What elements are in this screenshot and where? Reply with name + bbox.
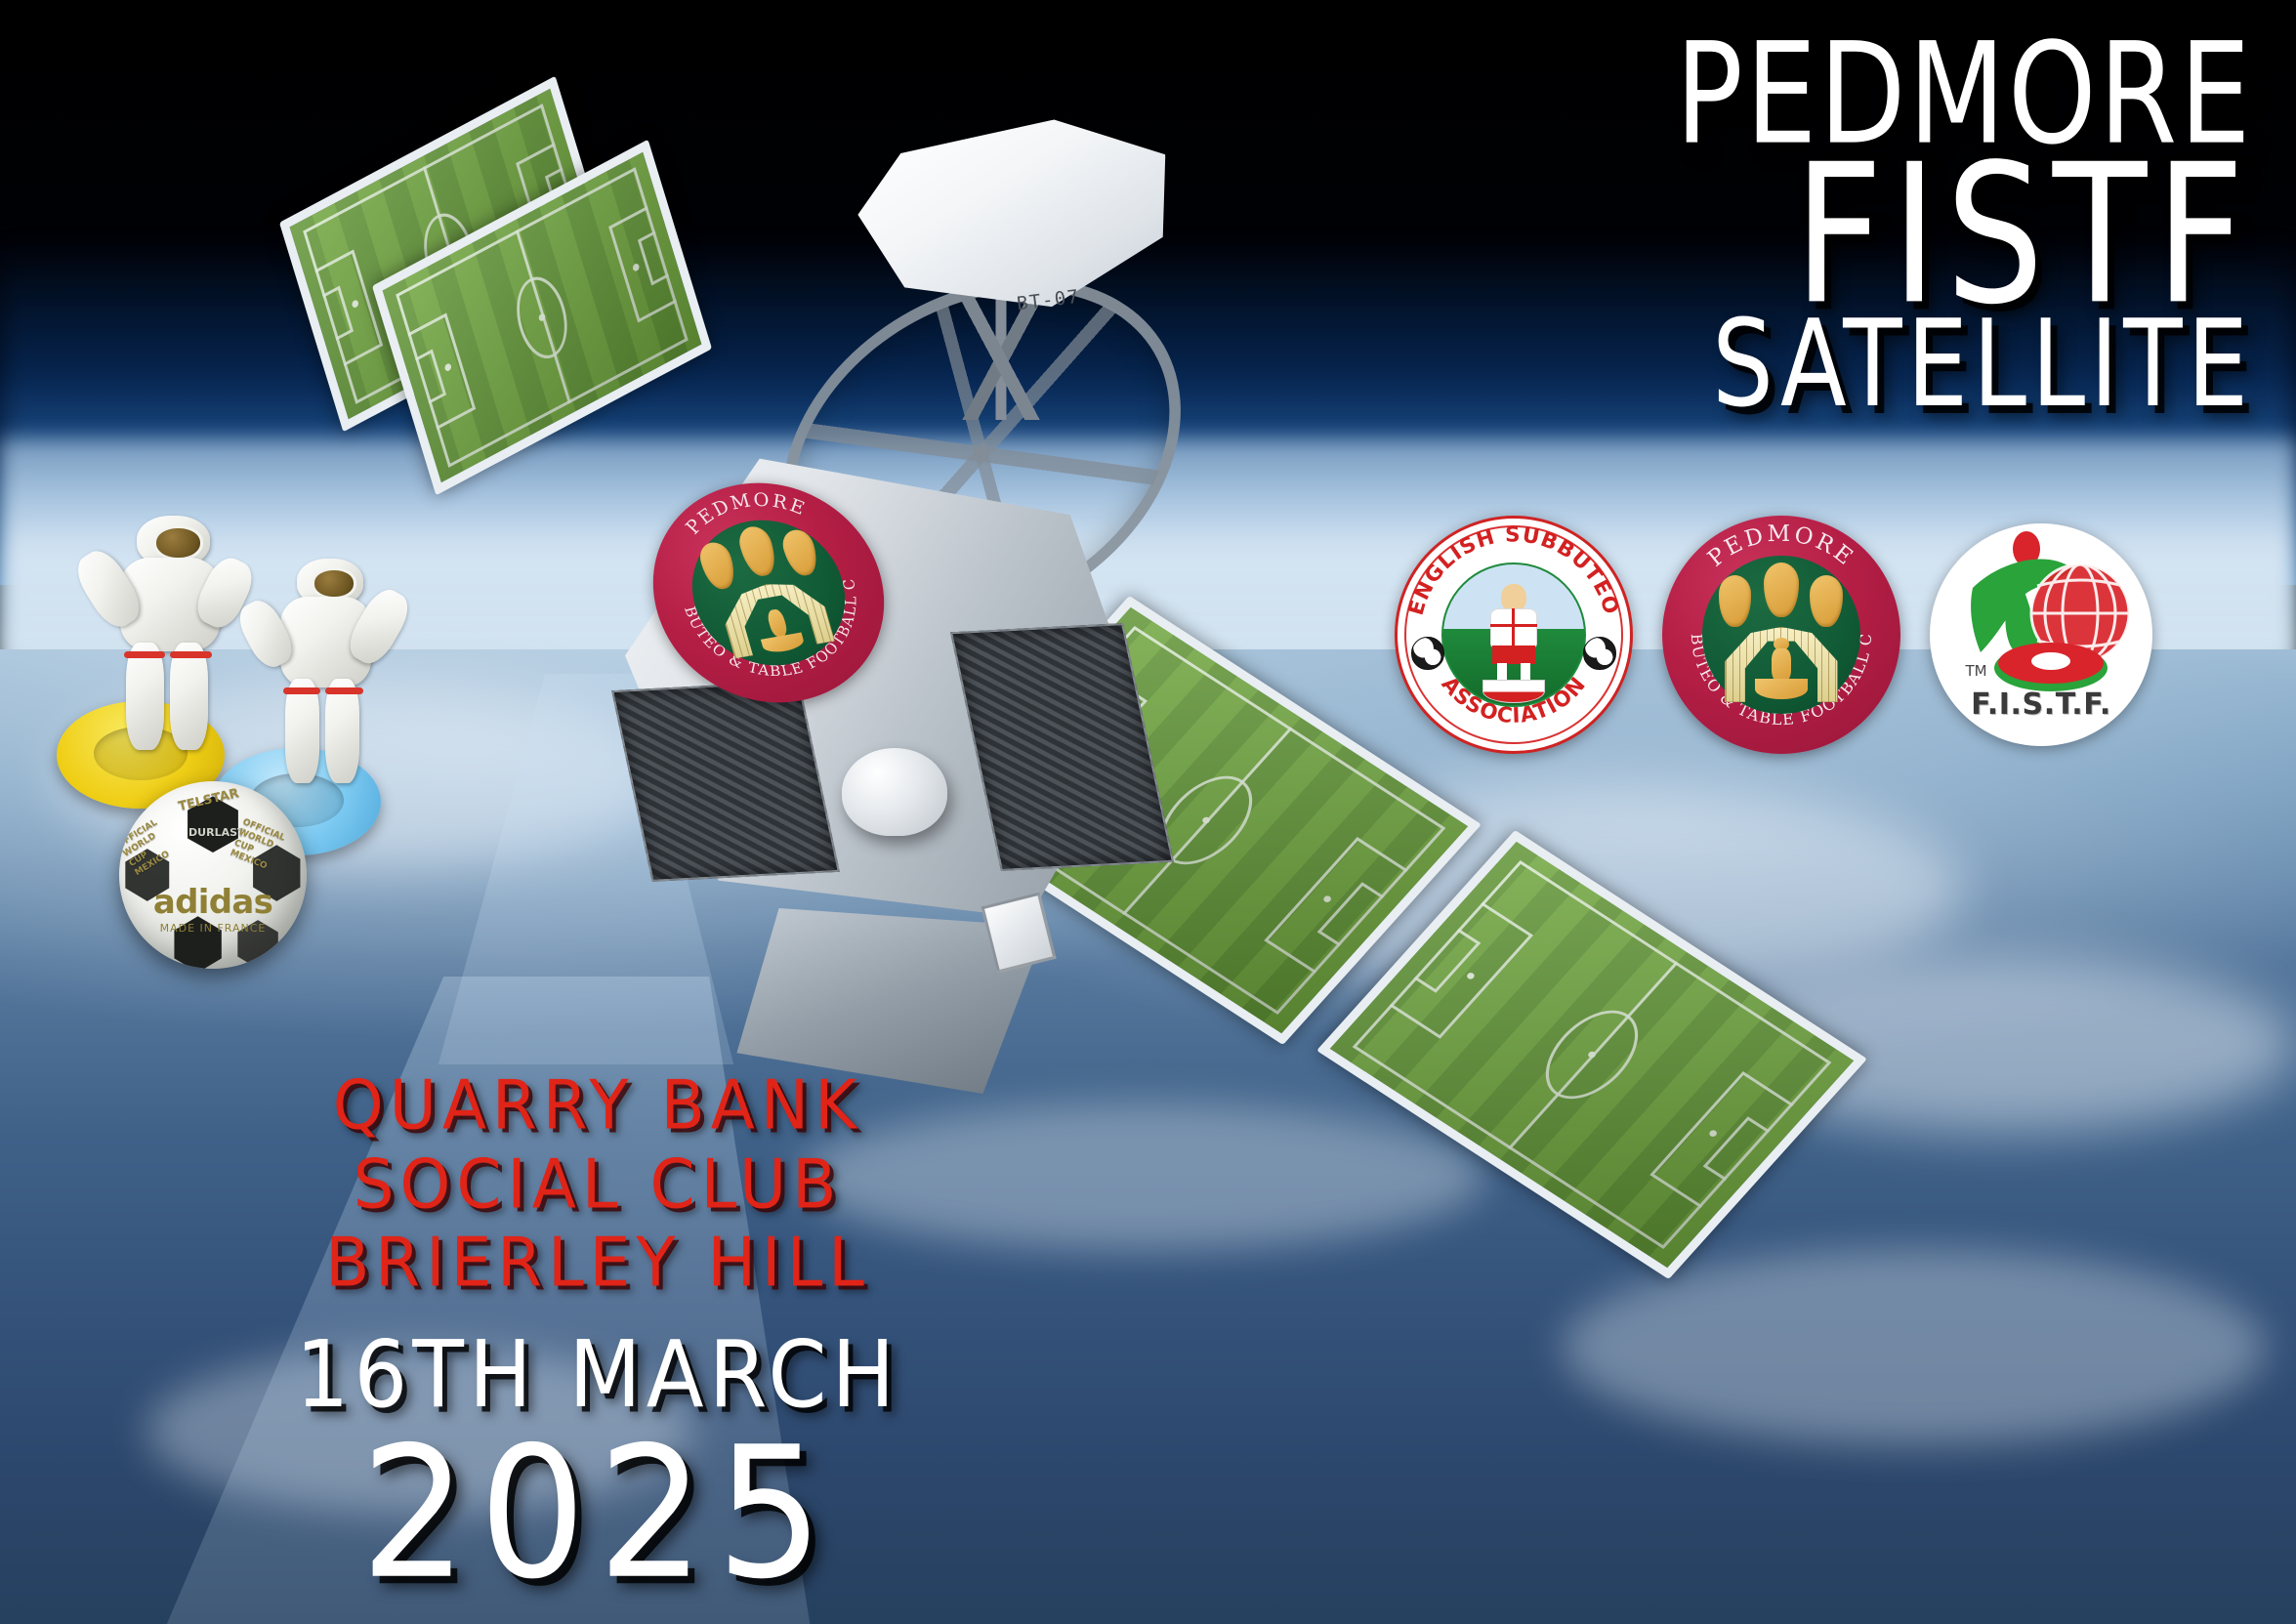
esa-football-icon-right [1583,637,1615,669]
venue-name-line: QUARRY BANK [256,1064,939,1147]
esa-player-shirt-cross-v [1512,608,1515,649]
venue-town-line: BRIERLEY HILL [256,1222,939,1305]
esa-pitch-scene [1441,562,1586,707]
satellite-sensor-knob [842,748,947,836]
esa-football-icon-left [1411,637,1443,669]
astronaut-right [244,559,400,785]
logo-english-subbuteo-association: ENGLISH SUBBUTEO ASSOCIATION [1395,516,1633,754]
logo-fistf: TM F.I.S.T.F. [1930,523,2152,746]
event-details-block: QUARRY BANK SOCIAL CLUB BRIERLEY HILL 16… [256,1066,939,1598]
pedmore-pear-center [1764,562,1798,617]
satellite-instrument-panel-left [611,681,840,882]
logo-pedmore-club: PEDMORE SUBBUTEO & TABLE FOOTBALL CLUB [1662,516,1900,754]
fistf-wordmark: F.I.S.T.F. [1930,687,2152,722]
pedmore-pear-left [1719,575,1752,627]
football-brand-name: adidas [153,883,272,922]
esa-subbuteo-base [1482,680,1544,703]
adidas-telstar-football: TELSTAR DURLAST OFFICIAL WORLD CUP MEXIC… [119,781,307,969]
venue-type-line: SOCIAL CLUB [256,1143,939,1226]
pedmore-figure-body [1772,648,1790,682]
esa-player-shorts [1492,645,1534,664]
esa-player-shirt-cross-h [1490,624,1538,627]
football-brand-block: adidas MADE IN FRANCE [153,883,272,935]
pedmore-figure-base [1755,679,1809,699]
poster-title-block: PEDMORE FISTF SATELLITE [1675,27,2253,410]
fistf-base-center [2031,652,2070,670]
astronaut-left [84,516,250,750]
pedmore-green-field [1702,556,1859,713]
event-year: 2025 [256,1423,939,1604]
event-poster: BT-07 PEDMORE SUBBUTEO & TABLE FOOTBALL … [0,0,2296,1624]
satellite-badge-field [675,509,862,677]
title-line-satellite: SATELLITE [1675,306,2253,422]
football-origin-text: MADE IN FRANCE [153,922,272,935]
pedmore-pear-right [1810,575,1843,627]
fistf-trademark-mark: TM [1965,662,1986,680]
